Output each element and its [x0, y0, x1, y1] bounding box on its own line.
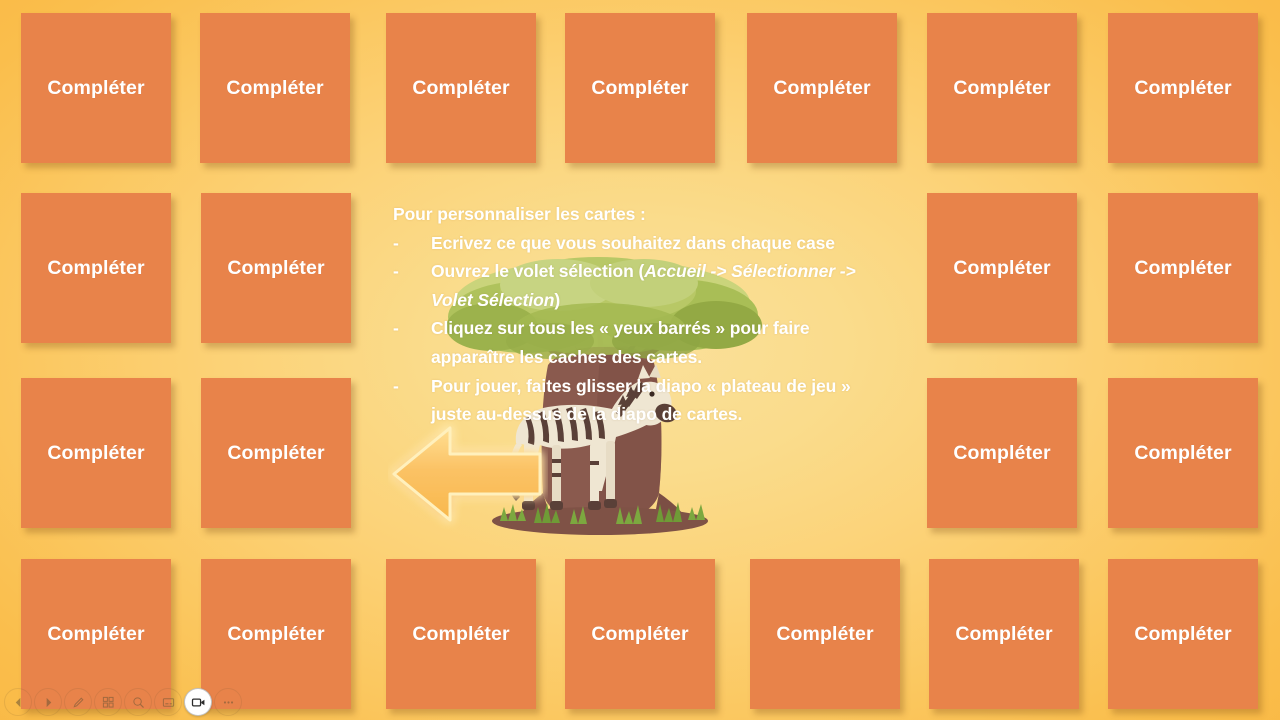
card-completer[interactable]: Compléter — [21, 13, 171, 163]
card-completer[interactable]: Compléter — [927, 193, 1077, 343]
card-completer[interactable]: Compléter — [21, 193, 171, 343]
card-completer[interactable]: Compléter — [201, 378, 351, 528]
card-label: Compléter — [953, 257, 1050, 280]
card-label: Compléter — [955, 623, 1052, 646]
card-label: Compléter — [591, 77, 688, 100]
card-label: Compléter — [773, 77, 870, 100]
card-completer[interactable]: Compléter — [386, 559, 536, 709]
card-completer[interactable]: Compléter — [747, 13, 897, 163]
instruction-text: Pour jouer, faites glisser la diapo « pl… — [431, 372, 885, 429]
zoom-icon[interactable] — [124, 688, 152, 716]
card-label: Compléter — [412, 77, 509, 100]
instruction-item: - Pour jouer, faites glisser la diapo « … — [393, 372, 885, 429]
bullet-dash: - — [393, 314, 431, 343]
bullet-dash: - — [393, 372, 431, 401]
bullet-dash: - — [393, 229, 431, 258]
card-completer[interactable]: Compléter — [386, 13, 536, 163]
instruction-text: Ecrivez ce que vous souhaitez dans chaqu… — [431, 229, 885, 258]
presentation-slide: Pour personnaliser les cartes : - Ecrive… — [0, 0, 1280, 720]
card-completer[interactable]: Compléter — [200, 13, 350, 163]
card-completer[interactable]: Compléter — [750, 559, 900, 709]
all-slides-icon[interactable] — [94, 688, 122, 716]
card-label: Compléter — [1134, 77, 1231, 100]
card-completer[interactable]: Compléter — [21, 559, 171, 709]
card-label: Compléter — [776, 623, 873, 646]
card-label: Compléter — [227, 257, 324, 280]
card-label: Compléter — [1134, 257, 1231, 280]
instruction-item: - Ecrivez ce que vous souhaitez dans cha… — [393, 229, 885, 258]
instruction-item: - Cliquez sur tous les « yeux barrés » p… — [393, 314, 885, 371]
glowing-left-arrow-icon — [388, 418, 548, 530]
instruction-item: - Ouvrez le volet sélection (Accueil -> … — [393, 257, 885, 314]
previous-slide-icon[interactable] — [4, 688, 32, 716]
instruction-text: Ouvrez le volet sélection (Accueil -> Sé… — [431, 257, 885, 314]
presenter-toolbar[interactable] — [4, 688, 242, 716]
subtitles-icon[interactable] — [154, 688, 182, 716]
card-completer[interactable]: Compléter — [565, 559, 715, 709]
card-completer[interactable]: Compléter — [565, 13, 715, 163]
card-label: Compléter — [226, 77, 323, 100]
card-label: Compléter — [47, 442, 144, 465]
card-completer[interactable]: Compléter — [927, 378, 1077, 528]
instructions-list: - Ecrivez ce que vous souhaitez dans cha… — [393, 229, 885, 429]
card-completer[interactable]: Compléter — [1108, 13, 1258, 163]
card-label: Compléter — [227, 442, 324, 465]
card-label: Compléter — [412, 623, 509, 646]
card-completer[interactable]: Compléter — [927, 13, 1077, 163]
card-completer[interactable]: Compléter — [1108, 193, 1258, 343]
ground-grass-group — [492, 502, 708, 535]
card-label: Compléter — [47, 257, 144, 280]
card-label: Compléter — [227, 623, 324, 646]
next-slide-icon[interactable] — [34, 688, 62, 716]
instructions-lead: Pour personnaliser les cartes : — [393, 200, 885, 229]
card-completer[interactable]: Compléter — [201, 193, 351, 343]
camera-icon[interactable] — [184, 688, 212, 716]
card-label: Compléter — [953, 442, 1050, 465]
card-completer[interactable]: Compléter — [1108, 378, 1258, 528]
card-label: Compléter — [953, 77, 1050, 100]
more-options-icon[interactable] — [214, 688, 242, 716]
bullet-dash: - — [393, 257, 431, 286]
pen-icon[interactable] — [64, 688, 92, 716]
instruction-text: Cliquez sur tous les « yeux barrés » pou… — [431, 314, 885, 371]
card-label: Compléter — [47, 623, 144, 646]
card-label: Compléter — [47, 77, 144, 100]
card-completer[interactable]: Compléter — [1108, 559, 1258, 709]
card-label: Compléter — [1134, 442, 1231, 465]
card-completer[interactable]: Compléter — [201, 559, 351, 709]
card-label: Compléter — [1134, 623, 1231, 646]
card-completer[interactable]: Compléter — [21, 378, 171, 528]
instructions-text-block: Pour personnaliser les cartes : - Ecrive… — [393, 200, 885, 429]
card-completer[interactable]: Compléter — [929, 559, 1079, 709]
card-label: Compléter — [591, 623, 688, 646]
